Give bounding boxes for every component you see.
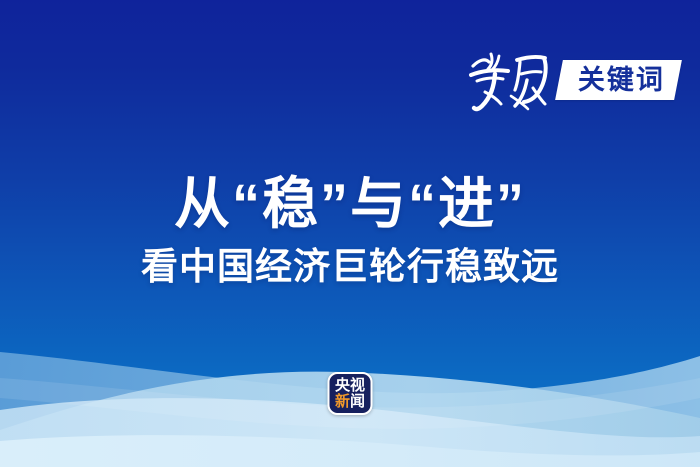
cctv-logo-line-1: 央 视 — [335, 378, 365, 393]
cctv-char-shi: 视 — [350, 378, 365, 393]
cctv-char-yang: 央 — [335, 378, 350, 393]
cctv-logo-line-2: 新 闻 — [335, 394, 365, 409]
cctv-news-logo[interactable]: 央 视 新 闻 — [328, 372, 373, 415]
cctv-char-xin: 新 — [335, 394, 350, 409]
headline-line-2: 看中国经济巨轮行稳致远 — [0, 248, 700, 285]
page-title: 从“稳”与“进” 看中国经济巨轮行稳致远 — [0, 176, 700, 285]
headline-line-1: 从“稳”与“进” — [0, 176, 700, 232]
cctv-char-wen: 闻 — [350, 394, 365, 409]
poster-root: 关键词 从“稳”与“进” 看中国经济巨轮行稳致远 央 视 新 闻 — [0, 0, 700, 467]
brand-lockup[interactable]: 关键词 — [465, 44, 678, 116]
keyword-badge-label: 关键词 — [578, 67, 665, 94]
xuexi-calligraphy-icon — [465, 44, 557, 116]
keyword-badge[interactable]: 关键词 — [555, 60, 682, 100]
